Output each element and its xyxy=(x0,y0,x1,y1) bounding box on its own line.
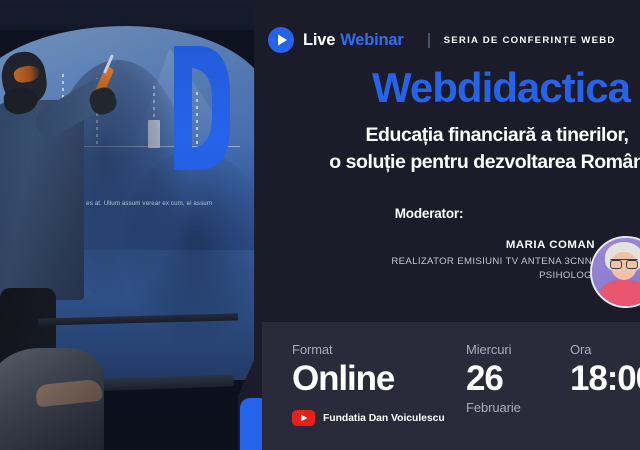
time-value: 18:00 xyxy=(570,358,640,399)
moderator-label: Moderator: xyxy=(240,206,618,221)
info-column-time: Ora 18:00 xyxy=(570,342,640,399)
page-title: Webdidactica xyxy=(312,64,640,112)
channel-row[interactable]: Fundatia Dan Voiculescu xyxy=(292,410,445,426)
speaker-role-line-1: REALIZATOR EMISIUNI TV ANTENA 3CNN, xyxy=(391,256,595,267)
date-caption: Miercuri xyxy=(466,342,521,358)
header-row: Live Webinar SERIA DE CONFERINȚE WEBD xyxy=(268,27,616,53)
date-month: Februarie xyxy=(466,399,521,416)
subtitle-line-2: o soluție pentru dezvoltarea României xyxy=(308,149,640,176)
presenter-photo: dum es at. Ullum assum verear ex cum, ei… xyxy=(0,0,262,450)
avatar xyxy=(590,236,640,308)
webinar-label: Webinar xyxy=(340,31,403,50)
event-info-panel: Format Online Miercuri 26 Februarie Ora … xyxy=(262,322,640,450)
brand-letter-d-overlay xyxy=(168,42,234,174)
format-value: Online xyxy=(292,358,394,399)
header-divider xyxy=(428,33,430,48)
speaker-role: REALIZATOR EMISIUNI TV ANTENA 3CNN, PSIH… xyxy=(345,255,595,283)
avatar-glasses-icon xyxy=(610,259,638,267)
live-label: Live xyxy=(303,31,335,50)
subtitle: Educația financiară a tinerilor, o soluț… xyxy=(308,122,640,176)
speaker-role-line-2: PSIHOLOG; xyxy=(345,269,595,283)
subtitle-line-1: Educația financiară a tinerilor, xyxy=(365,124,628,146)
play-circle-icon[interactable] xyxy=(268,27,294,53)
presenter-figure xyxy=(0,52,124,352)
blue-accent-shape xyxy=(240,398,262,450)
format-caption: Format xyxy=(292,342,394,358)
info-column-format: Format Online xyxy=(292,342,394,399)
webinar-poster: dum es at. Ullum assum verear ex cum, ei… xyxy=(0,0,640,450)
speaker-block: MARIA COMAN REALIZATOR EMISIUNI TV ANTEN… xyxy=(345,238,595,283)
avatar-body xyxy=(600,280,640,308)
speaker-name: MARIA COMAN xyxy=(345,238,595,253)
series-label: SERIA DE CONFERINȚE WEBD xyxy=(444,35,616,46)
avatar-portrait xyxy=(592,238,640,306)
date-value: 26 xyxy=(466,358,521,399)
info-column-date: Miercuri 26 Februarie xyxy=(466,342,521,416)
youtube-icon[interactable] xyxy=(292,410,315,426)
channel-label: Fundatia Dan Voiculescu xyxy=(323,413,445,424)
time-caption: Ora xyxy=(570,342,640,358)
